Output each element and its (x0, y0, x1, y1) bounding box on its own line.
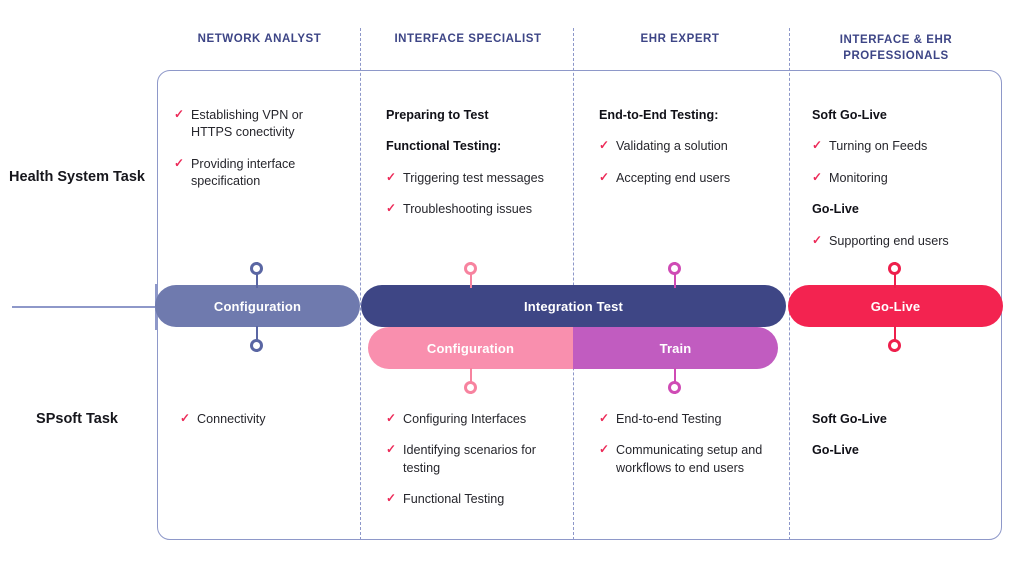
timeline-bar-label: Go-Live (871, 299, 920, 314)
connector-ring (464, 262, 477, 275)
check-icon: ✓ (599, 138, 610, 149)
spsoft-task-block-interface-specialist: ✓ Configuring Interfaces ✓ Identifying s… (386, 411, 556, 523)
diagram-canvas: NETWORK ANALYST INTERFACE SPECIALIST EHR… (0, 0, 1024, 570)
list-item: ✓ Providing interface specification (174, 156, 344, 191)
list-item-label: Supporting end users (829, 234, 949, 248)
list-item-label: Identifying scenarios for testing (403, 443, 536, 474)
check-icon: ✓ (386, 491, 397, 502)
spsoft-task-block-network-analyst: ✓ Connectivity (180, 411, 350, 442)
list-heading: Go-Live (812, 201, 992, 218)
list-item-label: Communicating setup and workflows to end… (616, 443, 762, 474)
list-item: ✓ Communicating setup and workflows to e… (599, 442, 764, 477)
connector-ring (464, 381, 477, 394)
check-icon: ✓ (180, 411, 191, 422)
timeline-bar-label: Integration Test (524, 299, 623, 314)
list-item: ✓ Triggering test messages (386, 170, 551, 187)
health-task-block-network-analyst: ✓ Establishing VPN or HTTPS conectivity … (174, 107, 344, 205)
list-item: ✓ Accepting end users (599, 170, 774, 187)
spsoft-task-block-interface-ehr-professionals: Soft Go-Live Go-Live (812, 411, 992, 474)
list-item: ✓ Turning on Feeds (812, 138, 992, 155)
list-heading: Soft Go-Live (812, 411, 992, 428)
list-heading: Soft Go-Live (812, 107, 992, 124)
row-label-text: SPsoft Task (36, 411, 118, 427)
check-icon: ✓ (174, 107, 185, 118)
row-label-health-system-task: Health System Task (2, 168, 152, 188)
health-task-block-ehr-expert: End-to-End Testing: ✓ Validating a solut… (599, 107, 774, 201)
check-icon: ✓ (812, 138, 823, 149)
row-label-spsoft-task: SPsoft Task (2, 410, 152, 430)
connector-ring (888, 339, 901, 352)
list-item: ✓ Troubleshooting issues (386, 201, 551, 218)
list-item-label: Accepting end users (616, 171, 730, 185)
connector-go-live-down (888, 326, 902, 352)
list-item: ✓ Monitoring (812, 170, 992, 187)
row-label-text: Health System Task (9, 169, 145, 185)
check-icon: ✓ (386, 201, 397, 212)
list-heading: Go-Live (812, 442, 992, 459)
column-header-label: EHR EXPERT (641, 33, 720, 45)
connector-ring (250, 339, 263, 352)
list-item-label: End-to-end Testing (616, 412, 721, 426)
connector-configuration-lower-down (464, 368, 478, 394)
check-icon: ✓ (599, 411, 610, 422)
timeline-bar-integration-test[interactable]: Integration Test (361, 285, 786, 327)
column-header-ehr-expert: EHR EXPERT (574, 32, 786, 48)
check-icon: ✓ (812, 170, 823, 181)
check-icon: ✓ (599, 442, 610, 453)
list-item: ✓ Connectivity (180, 411, 350, 428)
connector-train-down (668, 368, 682, 394)
list-item: ✓ Functional Testing (386, 491, 556, 508)
list-item-label: Troubleshooting issues (403, 202, 532, 216)
spsoft-task-block-ehr-expert: ✓ End-to-end Testing ✓ Communicating set… (599, 411, 764, 491)
list-item: ✓ End-to-end Testing (599, 411, 764, 428)
connector-go-live-up (888, 262, 902, 288)
list-item: ✓ Identifying scenarios for testing (386, 442, 556, 477)
check-icon: ✓ (386, 442, 397, 453)
timeline-bar-label: Train (660, 341, 692, 356)
check-icon: ✓ (386, 411, 397, 422)
list-item-label: Configuring Interfaces (403, 412, 526, 426)
connector-configuration-lower-up (464, 262, 478, 288)
connector-ring (668, 381, 681, 394)
connector-ring (668, 262, 681, 275)
list-item: ✓ Validating a solution (599, 138, 774, 155)
list-item: ✓ Supporting end users (812, 233, 992, 250)
check-icon: ✓ (174, 156, 185, 167)
list-item: ✓ Configuring Interfaces (386, 411, 556, 428)
column-header-interface-specialist: INTERFACE SPECIALIST (362, 32, 574, 48)
timeline-bar-label: Configuration (427, 341, 514, 356)
connector-configuration-up (250, 262, 264, 288)
list-item-label: Triggering test messages (403, 171, 544, 185)
list-item-label: Functional Testing (403, 492, 504, 506)
list-item-label: Validating a solution (616, 139, 728, 153)
list-heading: Functional Testing: (386, 138, 551, 155)
list-item: ✓ Establishing VPN or HTTPS conectivity (174, 107, 344, 142)
column-header-interface-ehr-professionals: INTERFACE & EHR PROFESSIONALS (790, 33, 1002, 64)
list-heading: End-to-End Testing: (599, 107, 774, 124)
health-task-block-interface-ehr-professionals: Soft Go-Live ✓ Turning on Feeds ✓ Monito… (812, 107, 992, 264)
list-item-label: Monitoring (829, 171, 888, 185)
column-header-label: INTERFACE & EHR PROFESSIONALS (840, 34, 952, 62)
timeline-baseline (12, 306, 160, 308)
list-item-label: Providing interface specification (191, 157, 295, 188)
list-item-label: Connectivity (197, 412, 266, 426)
list-item-label: Establishing VPN or HTTPS conectivity (191, 108, 303, 139)
connector-train-up (668, 262, 682, 288)
list-heading: Preparing to Test (386, 107, 551, 124)
connector-ring (888, 262, 901, 275)
timeline-bar-train[interactable]: Train (573, 327, 778, 369)
check-icon: ✓ (386, 170, 397, 181)
check-icon: ✓ (812, 233, 823, 244)
health-task-block-interface-specialist: Preparing to Test Functional Testing: ✓ … (386, 107, 551, 233)
column-header-label: NETWORK ANALYST (198, 33, 322, 45)
check-icon: ✓ (599, 170, 610, 181)
list-item-label: Turning on Feeds (829, 139, 927, 153)
connector-ring (250, 262, 263, 275)
timeline-bar-label: Configuration (214, 299, 301, 314)
connector-configuration-down (250, 326, 264, 352)
timeline-bar-go-live[interactable]: Go-Live (788, 285, 1003, 327)
column-header-label: INTERFACE SPECIALIST (394, 33, 541, 45)
timeline-bar-configuration-lower[interactable]: Configuration (368, 327, 573, 369)
timeline-bar-configuration-upper[interactable]: Configuration (155, 285, 360, 327)
column-header-network-analyst: NETWORK ANALYST (157, 32, 362, 48)
